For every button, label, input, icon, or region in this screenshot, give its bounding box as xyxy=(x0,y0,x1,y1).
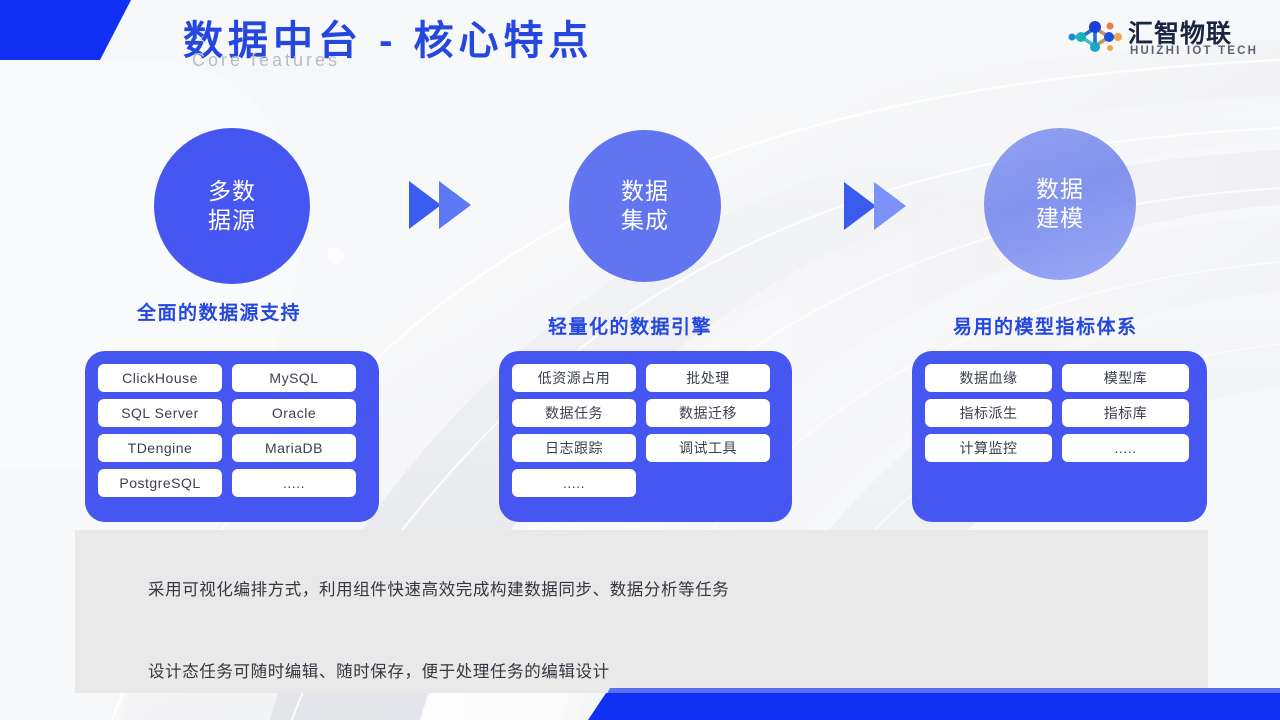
logo-name-en: HUIZHI IOT TECH xyxy=(1130,45,1258,57)
tag-item[interactable]: MariaDB xyxy=(232,434,356,462)
stage-circle-2-line1: 数据 xyxy=(621,177,669,206)
stage-label-3: 易用的模型指标体系 xyxy=(953,312,1138,339)
stage-circle-1: 多数 据源 xyxy=(154,128,310,284)
tag-item[interactable]: 数据任务 xyxy=(512,399,636,427)
tag-group-modeling: 数据血缘 模型库 指标派生 指标库 计算监控 ..... xyxy=(912,351,1207,522)
bottom-right-accent-shape xyxy=(588,693,1280,720)
stage-arrow-2 xyxy=(842,178,912,234)
decorative-dot xyxy=(327,247,344,264)
tag-item[interactable]: TDengine xyxy=(98,434,222,462)
stage-circle-2: 数据 集成 xyxy=(569,130,721,282)
tag-item[interactable]: 日志跟踪 xyxy=(512,434,636,462)
brand-logo: 汇智物联 HUIZHI IOT TECH xyxy=(1066,14,1266,62)
stage-circle-2-line2: 集成 xyxy=(621,206,669,235)
tag-item[interactable]: ..... xyxy=(1062,434,1189,462)
stage-circle-3-line2: 建模 xyxy=(1036,204,1084,233)
tag-item[interactable]: PostgreSQL xyxy=(98,469,222,497)
stage-circle-3: 数据 建模 xyxy=(984,128,1136,280)
tag-item[interactable]: ..... xyxy=(512,469,636,497)
stage-arrow-1 xyxy=(407,177,477,233)
tag-item[interactable]: MySQL xyxy=(232,364,356,392)
stage-label-2: 轻量化的数据引擎 xyxy=(548,312,712,339)
page-subtitle: Core features xyxy=(192,50,340,71)
tag-item[interactable]: 数据迁移 xyxy=(646,399,770,427)
stage-label-1: 全面的数据源支持 xyxy=(137,298,301,325)
tag-item[interactable]: 调试工具 xyxy=(646,434,770,462)
tag-item[interactable]: SQL Server xyxy=(98,399,222,427)
molecule-network-icon xyxy=(1066,16,1124,58)
feature-bullet-2-desc: 设计态任务可随时编辑、随时保存，便于处理任务的编辑设计 xyxy=(148,658,610,682)
stage-circle-1-line2: 据源 xyxy=(208,206,256,235)
tag-item[interactable]: 指标派生 xyxy=(925,399,1052,427)
tag-item[interactable]: 数据血缘 xyxy=(925,364,1052,392)
feature-bullet-1-desc: 采用可视化编排方式，利用组件快速高效完成构建数据同步、数据分析等任务 xyxy=(148,576,729,600)
tag-item[interactable]: 计算监控 xyxy=(925,434,1052,462)
tag-group-datasources: ClickHouse MySQL SQL Server Oracle TDeng… xyxy=(85,351,379,522)
tag-item[interactable]: 低资源占用 xyxy=(512,364,636,392)
tag-item[interactable]: 批处理 xyxy=(646,364,770,392)
tag-group-integration: 低资源占用 批处理 数据任务 数据迁移 日志跟踪 调试工具 ..... xyxy=(499,351,792,522)
tag-item[interactable]: ClickHouse xyxy=(98,364,222,392)
tag-item[interactable]: 模型库 xyxy=(1062,364,1189,392)
tag-item[interactable]: ..... xyxy=(232,469,356,497)
tag-item[interactable]: Oracle xyxy=(232,399,356,427)
stage-circle-1-line1: 多数 xyxy=(208,177,256,206)
tag-item[interactable]: 指标库 xyxy=(1062,399,1189,427)
stage-circle-3-line1: 数据 xyxy=(1036,175,1084,204)
